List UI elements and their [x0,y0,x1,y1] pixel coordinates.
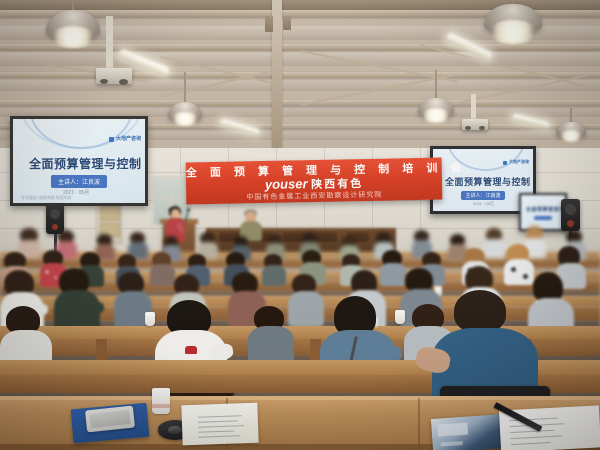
event-banner: 全 面 预 算 管 理 与 控 制 培 训 会 youser 陕西有色 中国有色… [186,158,443,205]
tv-logo: 大地产咨询 [509,159,529,165]
slide-logo-mark [109,137,114,142]
conference-room-photo: 大地产咨询 全面预算管理与控制 主讲人：江良波 2021 · 05月 专业服务·… [0,0,600,450]
projection-screen: 大地产咨询 全面预算管理与控制 主讲人：江良波 2021 · 05月 专业服务·… [10,116,148,206]
banner-logo-cn: 陕西有色 [311,178,363,191]
tv-presenter: 主讲人：江良波 [461,191,505,200]
slide-title: 全面预算管理与控制 [29,155,142,172]
tv-title: 全面预算管理与控制 [445,175,531,188]
paper-cup [145,312,155,326]
aux-monitor: 全面预算管理与控制 [519,193,567,231]
slide-presenter: 主讲人：江良波 [51,175,107,188]
aux-presenter [534,216,552,220]
tshirt-logo [185,346,197,354]
banner-logo-latin: youser [265,176,308,192]
paper-cup [395,310,405,324]
tv-logo-mark [503,161,507,165]
slide-footer: 专业服务·成就卓越 版权所有 [21,195,71,201]
handout-document[interactable] [181,403,258,446]
tv-date: 2021 · 05月 [473,201,494,207]
paper-cup[interactable] [152,388,170,414]
slide-logo: 大地产咨询 [116,135,141,142]
